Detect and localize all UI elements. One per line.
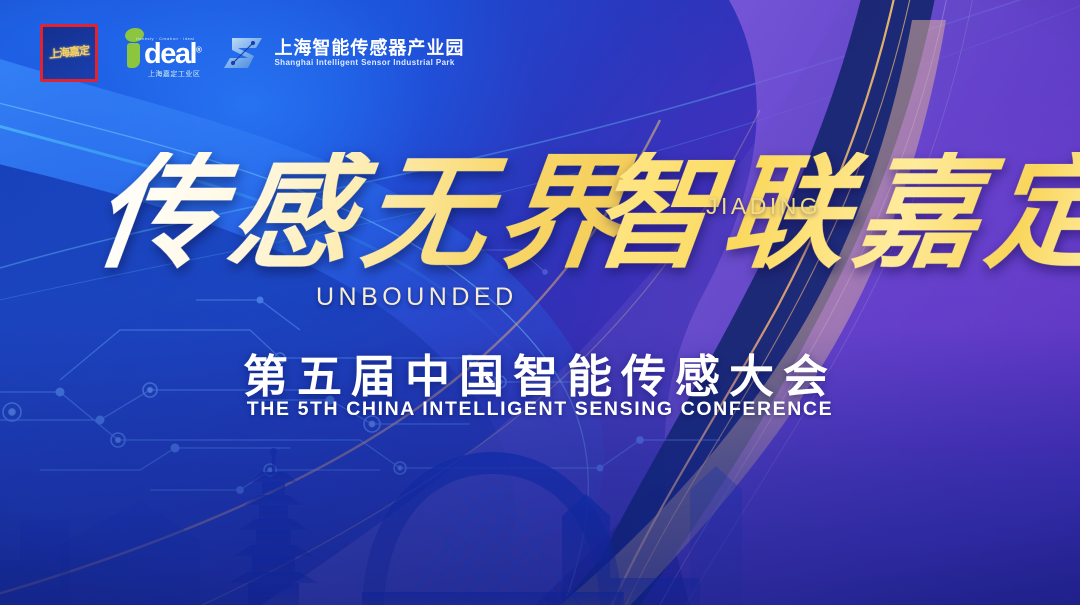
ideal-word-text: deal: [144, 38, 196, 70]
conference-title-en: THE 5TH CHINA INTELLIGENT SENSING CONFER…: [0, 398, 1080, 421]
sensor-park-logo: 上海智能传感器产业园 Shanghai Intelligent Sensor I…: [224, 34, 464, 72]
ideal-wordmark: deal®: [144, 41, 200, 68]
park-name-cn: 上海智能传感器产业园: [274, 40, 464, 58]
seal-glyph-text: 上海嘉定: [49, 45, 89, 60]
ideal-i-icon: [122, 28, 146, 68]
calligraphy-left: 传感无界: [88, 152, 639, 276]
park-text-block: 上海智能传感器产业园 Shanghai Intelligent Sensor I…: [274, 40, 464, 67]
jiading-seal-logo: 上海嘉定: [40, 24, 98, 82]
conference-banner: 上海嘉定 deal® Honesty · Creation · Ideal 上海…: [0, 0, 1080, 605]
subtitle-unbounded: UNBOUNDED: [316, 283, 518, 312]
ideal-logo-row: deal® Honesty · Creation · Ideal: [122, 28, 200, 68]
ideal-subtitle: 上海嘉定工业区: [122, 69, 200, 79]
subtitle-jiading: JIADING: [706, 193, 821, 220]
park-name-en: Shanghai Intelligent Sensor Industrial P…: [274, 59, 464, 67]
ideal-micro-text: Honesty · Creation · Ideal: [136, 36, 195, 41]
registered-mark: ®: [196, 45, 200, 54]
park-s-mark-icon: [224, 34, 264, 72]
ideal-logo: deal® Honesty · Creation · Ideal 上海嘉定工业区: [122, 29, 200, 77]
logo-bar: 上海嘉定 deal® Honesty · Creation · Ideal 上海…: [40, 24, 464, 82]
conference-title-cn: 第五届中国智能传感大会: [0, 340, 1080, 405]
calligraphy-right: 智联嘉定: [584, 152, 1080, 276]
